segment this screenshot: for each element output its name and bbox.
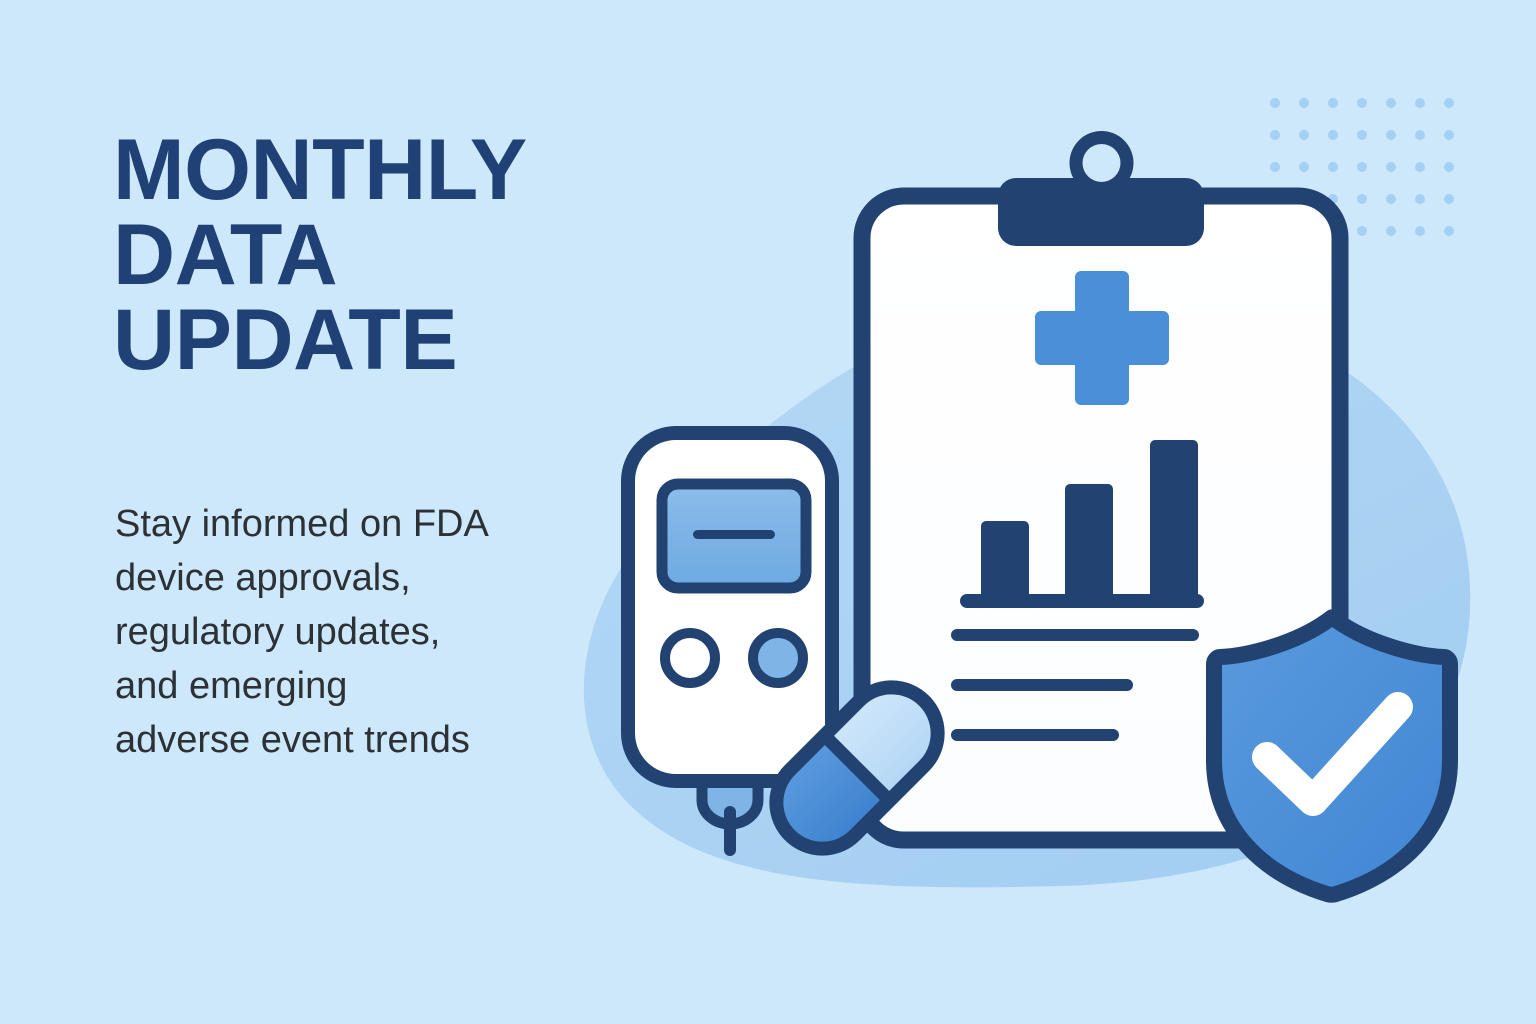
bar-3 [1150, 440, 1198, 601]
meter-button-left[interactable] [665, 633, 715, 683]
text-line-1 [951, 629, 1199, 641]
shield-check [1214, 617, 1450, 895]
clipboard-clip [998, 131, 1204, 246]
shield-body [1214, 617, 1450, 895]
clipboard-clip-hole [1083, 144, 1121, 182]
page-title: MONTHLY DATA UPDATE [113, 128, 673, 383]
meter-screen-dash [693, 530, 775, 539]
meter-button-right[interactable] [753, 633, 803, 683]
bar-chart-baseline [960, 594, 1204, 608]
text-line-2 [951, 679, 1133, 691]
bar-2 [1065, 484, 1113, 601]
text-line-3 [951, 729, 1119, 741]
headline-block: MONTHLY DATA UPDATE [113, 128, 673, 383]
meter-lancet-stem [724, 806, 736, 856]
bar-1 [981, 521, 1029, 601]
subtitle: Stay informed on FDA device approvals, r… [115, 498, 585, 768]
poster-canvas: MONTHLY DATA UPDATE Stay informed on FDA… [0, 0, 1536, 1024]
